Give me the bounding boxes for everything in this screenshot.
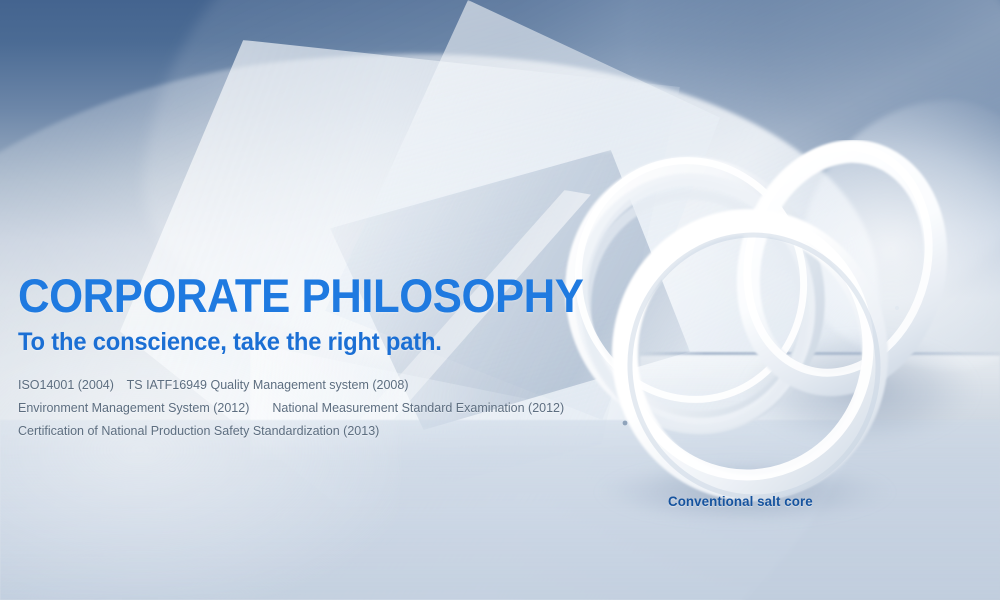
- certification-item-iso14001: ISO14001 (2004): [18, 378, 114, 392]
- certification-item-safety: Certification of National Production Saf…: [18, 424, 379, 438]
- certification-line-1: ISO14001 (2004) TS IATF16949 Quality Man…: [18, 374, 564, 397]
- corporate-philosophy-banner: CORPORATE PHILOSOPHY To the conscience, …: [0, 0, 1000, 600]
- rings-illustration: [560, 140, 1000, 540]
- certification-line-2: Environment Management System (2012) Nat…: [18, 397, 564, 420]
- tagline: To the conscience, take the right path.: [18, 330, 442, 355]
- page-title: CORPORATE PHILOSOPHY: [18, 272, 583, 319]
- certification-line-3: Certification of National Production Saf…: [18, 420, 564, 443]
- salt-core-rings-image: [560, 140, 1000, 540]
- certification-item-measurement: National Measurement Standard Examinatio…: [272, 401, 564, 415]
- certification-item-iatf16949: TS IATF16949 Quality Management system (…: [127, 378, 409, 392]
- ring-pin-hole: [623, 421, 628, 426]
- ring-vent-hole: [895, 306, 899, 310]
- certification-item-ems: Environment Management System (2012): [18, 401, 249, 415]
- product-caption: Conventional salt core: [668, 493, 813, 509]
- certification-list: ISO14001 (2004) TS IATF16949 Quality Man…: [18, 374, 564, 443]
